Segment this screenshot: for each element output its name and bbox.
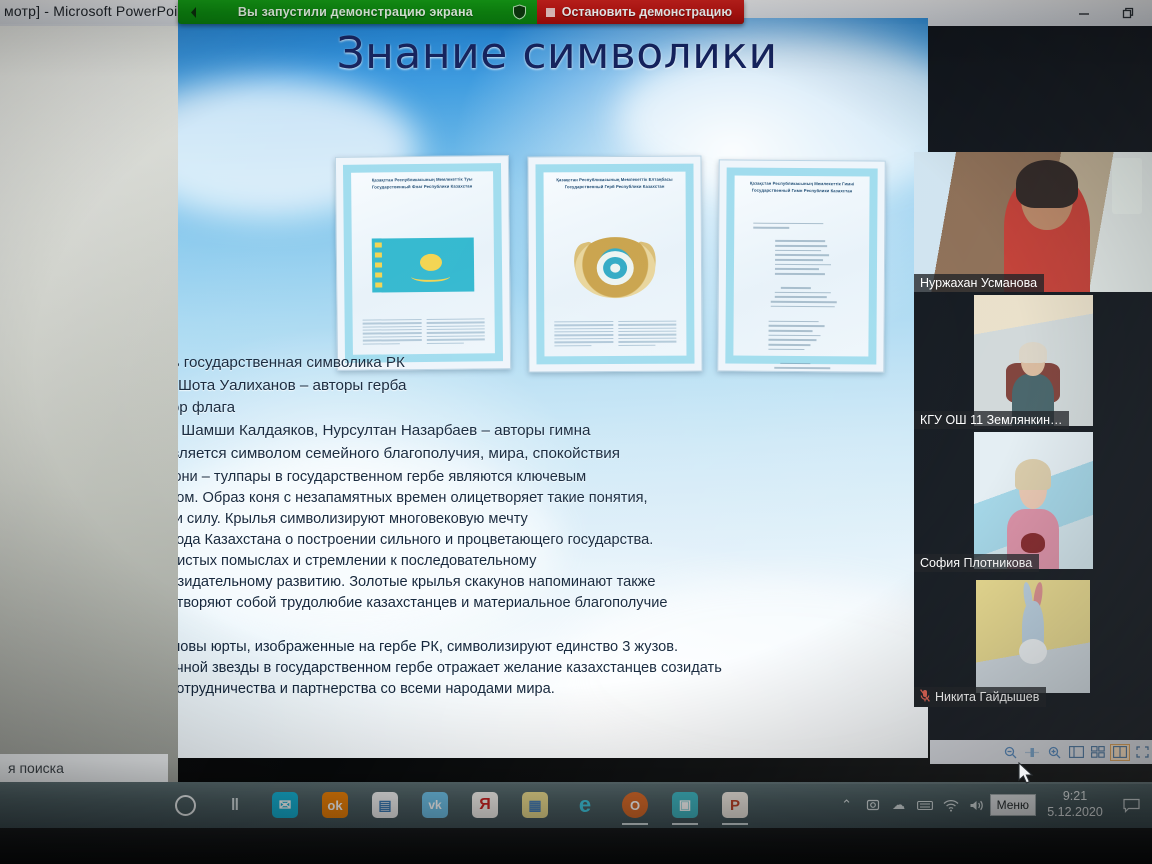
avatar-image bbox=[976, 580, 1090, 693]
yandex-browser-icon[interactable]: Я bbox=[460, 782, 510, 828]
kazakhstan-emblem-image bbox=[575, 231, 655, 305]
microsoft-edge-icon[interactable]: e bbox=[560, 782, 610, 828]
cortana-icon[interactable] bbox=[160, 782, 210, 828]
participants-panel: Нуржахан Усманова КГУ ОШ 11 Землянкин… bbox=[914, 152, 1152, 707]
participant-name-badge: София Плотникова bbox=[914, 554, 1039, 572]
anthem-document-card: Қазақстан Республикасының Мемлекеттік Ги… bbox=[717, 159, 885, 372]
flag-eagle bbox=[411, 271, 450, 282]
participant-tile[interactable]: КГУ ОШ 11 Землянкин… bbox=[914, 292, 1152, 429]
task-view-icon[interactable]: ‖ bbox=[210, 782, 260, 828]
participant-tile-active-speaker[interactable]: София Плотникова bbox=[914, 429, 1152, 572]
slide-sorter-icon[interactable] bbox=[1088, 744, 1108, 761]
flag-document-card: Қазақстан Республикасының Мемлекеттік Ту… bbox=[335, 155, 511, 371]
notification-icon[interactable] bbox=[1114, 782, 1148, 828]
participant-name: Нуржахан Усманова bbox=[920, 276, 1037, 290]
volume-icon[interactable] bbox=[964, 782, 990, 828]
anthem-document-paper: Қазақстан Республикасының Мемлекеттік Ги… bbox=[725, 167, 877, 364]
microsoft-store-icon[interactable]: ▤ bbox=[360, 782, 410, 828]
cloud-icon[interactable]: ☁ bbox=[886, 782, 912, 828]
zoom-in-icon[interactable] bbox=[1044, 744, 1064, 760]
shirt-graphic bbox=[1021, 533, 1045, 552]
mic-off-icon bbox=[920, 689, 930, 705]
shield-icon[interactable] bbox=[503, 4, 537, 20]
participant-tile[interactable]: Никита Гайдышев bbox=[914, 572, 1152, 707]
participant-tile[interactable]: Нуржахан Усманова bbox=[914, 152, 1152, 292]
mouse-cursor bbox=[1018, 762, 1036, 791]
powerpoint-icon[interactable]: P bbox=[710, 782, 760, 828]
slide-title: Знание символики bbox=[212, 28, 902, 79]
desk-shading bbox=[0, 26, 178, 786]
normal-view-icon[interactable] bbox=[1066, 744, 1086, 761]
participant-hair bbox=[1015, 459, 1051, 489]
video-frame bbox=[974, 432, 1093, 569]
participant-name: Никита Гайдышев bbox=[935, 690, 1039, 704]
clock-time: 9:21 bbox=[1063, 789, 1087, 805]
participant-name-badge: КГУ ОШ 11 Землянкин… bbox=[914, 411, 1069, 429]
back-arrow-icon[interactable] bbox=[178, 6, 208, 19]
stop-share-label: Остановить демонстрацию bbox=[562, 5, 732, 19]
emblem-document-text bbox=[554, 321, 676, 349]
flag-document-paper: Қазақстан Республикасының Мемлекеттік Ту… bbox=[343, 163, 503, 363]
restore-button[interactable] bbox=[1106, 0, 1150, 26]
photos-icon[interactable]: ▦ bbox=[510, 782, 560, 828]
video-frame bbox=[974, 295, 1093, 427]
windows-taskbar: ‖ ✉ ok ▤ vk Я ▦ e O ▣ P bbox=[0, 782, 1152, 828]
odnoklassniki-icon[interactable]: ok bbox=[310, 782, 360, 828]
window-controls bbox=[1062, 0, 1150, 26]
flag-ornament bbox=[375, 242, 383, 288]
powerpoint-view-bar bbox=[930, 740, 1152, 764]
stop-share-button[interactable]: Остановить демонстрацию bbox=[537, 0, 744, 24]
video-feed bbox=[914, 292, 1152, 429]
monitor-photo: мотр] - Microsoft PowerPoin Знание симво… bbox=[0, 0, 1152, 864]
wifi-icon[interactable] bbox=[938, 782, 964, 828]
mail-icon[interactable]: ✉ bbox=[260, 782, 310, 828]
keyboard-layout-icon[interactable] bbox=[912, 782, 938, 828]
emblem-center bbox=[610, 263, 620, 272]
window-title: мотр] - Microsoft PowerPoin bbox=[4, 3, 185, 19]
participant-name-badge: Никита Гайдышев bbox=[914, 687, 1046, 707]
emblem-document-card: Қазақстан Республикасының Мемлекеттік Ел… bbox=[527, 156, 702, 373]
video-feed bbox=[914, 152, 1152, 292]
video-feed bbox=[914, 429, 1152, 572]
windows-search-box[interactable]: я поиска bbox=[0, 754, 168, 782]
monitor-bezel bbox=[0, 828, 1152, 864]
screen-share-bar: Вы запустили демонстрацию экрана Останов… bbox=[178, 0, 744, 24]
zoom-slider-icon[interactable] bbox=[1022, 744, 1042, 760]
symbol-documents-group: Қазақстан Республикасының Мемлекеттік Ту… bbox=[178, 138, 928, 368]
system-tray: ⌃ ☁ Меню 9:21 5.12.2020 bbox=[834, 782, 1152, 828]
taskbar-clock[interactable]: 9:21 5.12.2020 bbox=[1036, 782, 1114, 828]
anthem-document-header: Қазақстан Республикасының Мемлекеттік Ги… bbox=[743, 181, 862, 196]
background-object bbox=[1112, 158, 1143, 214]
participant-name-badge: Нуржахан Усманова bbox=[914, 274, 1044, 292]
kazakhstan-flag-image bbox=[372, 237, 475, 293]
onedrive-sync-icon[interactable] bbox=[860, 782, 886, 828]
show-hidden-icons-icon[interactable]: ⌃ bbox=[834, 782, 860, 828]
vk-icon[interactable]: vk bbox=[410, 782, 460, 828]
clock-date: 5.12.2020 bbox=[1047, 805, 1103, 821]
kazakhstan-anthem-lyrics bbox=[752, 222, 853, 345]
search-placeholder: я поиска bbox=[8, 760, 64, 776]
participant-name: КГУ ОШ 11 Землянкин… bbox=[920, 413, 1062, 427]
participant-hair bbox=[1019, 342, 1048, 363]
camera-icon[interactable]: ▣ bbox=[660, 782, 710, 828]
opera-icon[interactable]: O bbox=[610, 782, 660, 828]
flag-sun bbox=[420, 254, 443, 272]
stop-square-icon bbox=[546, 8, 555, 17]
cartoon-face bbox=[1019, 639, 1046, 664]
participant-hair bbox=[1016, 160, 1078, 208]
flag-document-header: Қазақстан Республикасының Мемлекеттік Ту… bbox=[360, 176, 485, 191]
zoom-out-icon[interactable] bbox=[1000, 744, 1020, 760]
share-status-text: Вы запустили демонстрацию экрана bbox=[208, 5, 503, 19]
reading-view-icon[interactable] bbox=[1110, 744, 1130, 761]
fit-slide-icon[interactable] bbox=[1132, 744, 1152, 761]
minimize-button[interactable] bbox=[1062, 0, 1106, 26]
flag-document-text bbox=[363, 318, 485, 346]
emblem-document-paper: Қазақстан Республикасының Мемлекеттік Ел… bbox=[535, 164, 694, 365]
menu-tooltip: Меню bbox=[990, 794, 1036, 816]
emblem-document-header: Қазақстан Республикасының Мемлекеттік Ел… bbox=[552, 177, 677, 191]
participant-name: София Плотникова bbox=[920, 556, 1032, 570]
